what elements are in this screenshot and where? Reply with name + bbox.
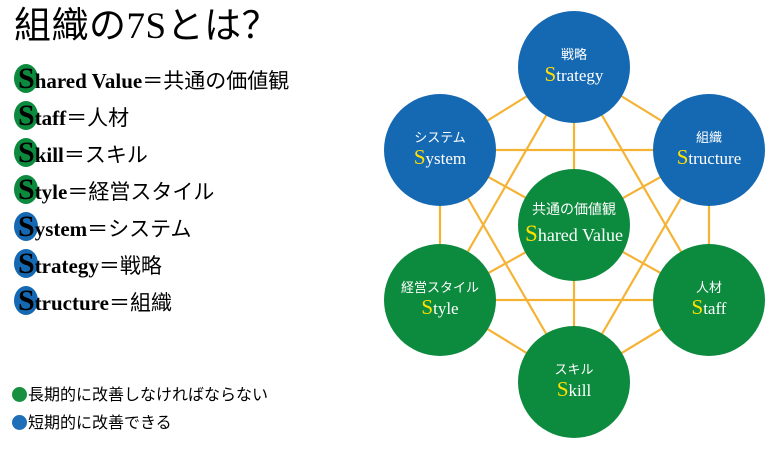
list-item-separator: ＝ [66, 106, 87, 130]
list-item-word: kill [35, 143, 64, 167]
node-skill-word: kill [569, 381, 592, 400]
list-item-word: hared Value [35, 69, 143, 93]
node-system-english: System [384, 145, 496, 170]
list-item: Structure＝組織 [14, 282, 374, 319]
list-item-text: System＝システム [14, 208, 192, 248]
legend-row: 短期的に改善できる [12, 410, 352, 438]
node-skill-text: スキル Skill [518, 362, 630, 402]
list-item-word: trategy [35, 254, 99, 278]
list-item-word: ystem [35, 217, 87, 241]
node-shared-value[interactable]: 共通の価値観 Shared Value [518, 169, 630, 281]
list-item-text: Structure＝組織 [14, 282, 172, 322]
node-shared-value-english: Shared Value [518, 220, 630, 247]
node-system-initial: S [414, 145, 426, 169]
list-item-separator: ＝ [99, 254, 120, 278]
seven-s-list: Shared Value＝共通の価値観 Staff＝人材 Skill＝スキル S… [14, 60, 374, 319]
list-item-japanese: 組織 [130, 291, 172, 315]
list-item: Skill＝スキル [14, 134, 374, 171]
list-item: Staff＝人材 [14, 97, 374, 134]
node-staff-english: Staff [653, 295, 765, 320]
node-staff[interactable]: 人材 Staff [653, 244, 765, 356]
list-item-japanese: 人材 [87, 106, 129, 130]
node-skill-japanese: スキル [518, 362, 630, 377]
node-shared-value-text: 共通の価値観 Shared Value [518, 203, 630, 247]
node-style-initial: S [421, 295, 433, 319]
list-item-initial: S [18, 173, 35, 206]
node-staff-text: 人材 Staff [653, 280, 765, 320]
list-item-initial: S [18, 284, 35, 317]
list-item-initial: S [18, 99, 35, 132]
node-skill-english: Skill [518, 377, 630, 402]
legend-row: 長期的に改善しなければならない [12, 382, 352, 410]
node-structure-initial: S [677, 145, 689, 169]
legend-label: 長期的に改善しなければならない [28, 382, 268, 410]
list-item-initial: S [18, 136, 35, 169]
node-shared-value-japanese: 共通の価値観 [518, 203, 630, 220]
list-item-word: tructure [35, 291, 109, 315]
node-strategy[interactable]: 戦略 Strategy [518, 11, 630, 123]
node-system-word: ystem [426, 149, 467, 168]
node-system-japanese: システム [384, 130, 496, 145]
node-strategy-word: trategy [556, 66, 603, 85]
node-staff-word: taff [703, 299, 726, 318]
node-shared-value-word: hared Value [538, 225, 623, 245]
node-structure-word: tructure [688, 149, 741, 168]
node-structure-text: 組織 Structure [653, 130, 765, 170]
list-item-japanese: 経営スタイル [88, 180, 214, 204]
node-skill[interactable]: スキル Skill [518, 326, 630, 438]
node-strategy-text: 戦略 Strategy [518, 47, 630, 87]
list-item-text: Staff＝人材 [14, 97, 129, 137]
node-staff-japanese: 人材 [653, 280, 765, 295]
list-item-initial: S [18, 247, 35, 280]
node-style[interactable]: 経営スタイル Style [384, 244, 496, 356]
node-style-word: tyle [433, 299, 459, 318]
list-item-separator: ＝ [67, 180, 88, 204]
list-item-text: Style＝経営スタイル [14, 171, 214, 211]
legend-label: 短期的に改善できる [28, 410, 172, 438]
node-shared-value-initial: S [525, 221, 538, 246]
node-system[interactable]: システム System [384, 94, 496, 206]
list-item-initial: S [18, 210, 35, 243]
seven-s-diagram: 戦略 Strategy 組織 Structure 人材 Staff スキル Sk… [375, 0, 780, 450]
list-item-word: tyle [35, 180, 68, 204]
node-style-japanese: 経営スタイル [384, 280, 496, 295]
node-style-english: Style [384, 295, 496, 320]
list-item-separator: ＝ [64, 143, 85, 167]
node-structure-japanese: 組織 [653, 130, 765, 145]
list-item: Style＝経営スタイル [14, 171, 374, 208]
node-strategy-initial: S [545, 62, 557, 86]
page-title: 組織の7Sとは？ [14, 2, 279, 52]
list-item: Strategy＝戦略 [14, 245, 374, 282]
list-item-separator: ＝ [109, 291, 130, 315]
list-item: Shared Value＝共通の価値観 [14, 60, 374, 97]
legend-dot-icon [12, 387, 27, 402]
node-skill-initial: S [557, 377, 569, 401]
list-item-text: Strategy＝戦略 [14, 245, 162, 285]
list-item-word: taff [35, 106, 66, 130]
list-item-japanese: システム [108, 217, 191, 241]
node-structure[interactable]: 組織 Structure [653, 94, 765, 206]
legend-dot-icon [12, 415, 27, 430]
node-strategy-japanese: 戦略 [518, 47, 630, 62]
node-staff-initial: S [692, 295, 704, 319]
list-item-text: Shared Value＝共通の価値観 [14, 60, 289, 100]
list-item-japanese: 戦略 [120, 254, 162, 278]
slide-root: 組織の7Sとは？ Shared Value＝共通の価値観 Staff＝人材 Sk… [0, 0, 780, 450]
list-item-separator: ＝ [142, 69, 163, 93]
node-style-text: 経営スタイル Style [384, 280, 496, 320]
list-item-japanese: 共通の価値観 [163, 69, 289, 93]
node-structure-english: Structure [653, 145, 765, 170]
legend: 長期的に改善しなければならない 短期的に改善できる [12, 382, 352, 438]
list-item-japanese: スキル [85, 143, 148, 167]
node-system-text: システム System [384, 130, 496, 170]
list-item-separator: ＝ [87, 217, 108, 241]
list-item-initial: S [18, 62, 35, 95]
list-item: System＝システム [14, 208, 374, 245]
left-panel: 組織の7Sとは？ Shared Value＝共通の価値観 Staff＝人材 Sk… [0, 0, 380, 450]
node-strategy-english: Strategy [518, 62, 630, 87]
list-item-text: Skill＝スキル [14, 134, 148, 174]
